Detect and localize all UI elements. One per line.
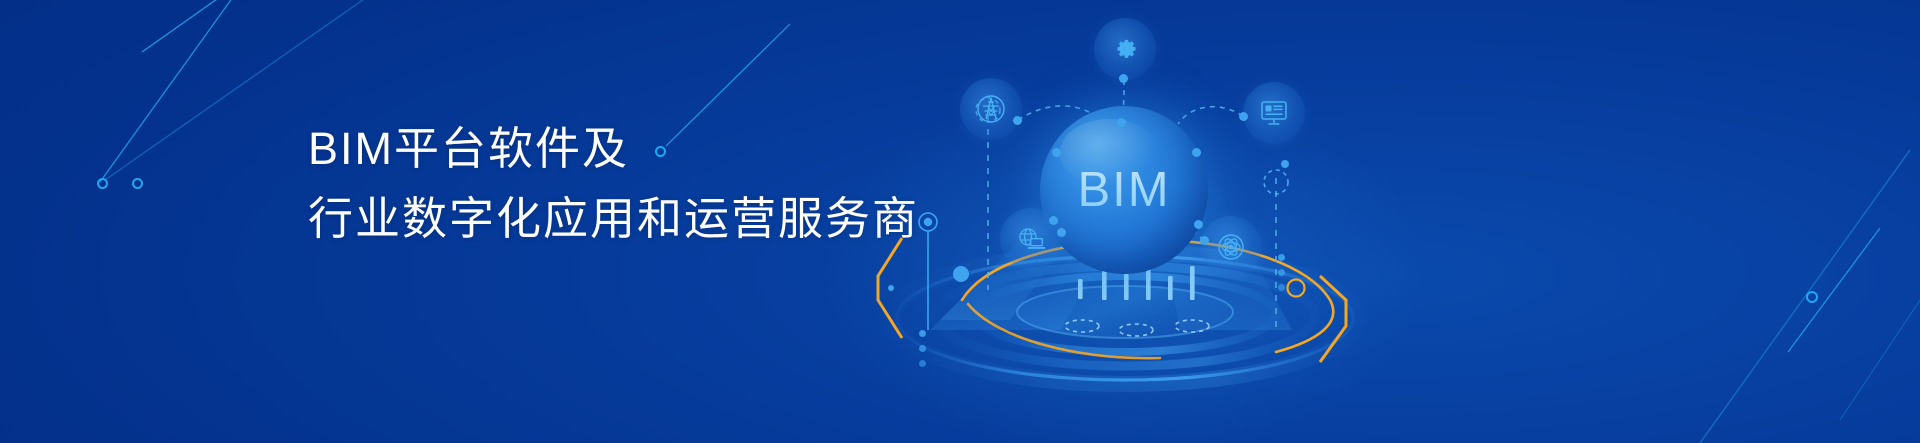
orange-brackets xyxy=(0,0,1920,443)
right-bracket xyxy=(1320,276,1346,362)
headline-line-2: 行业数字化应用和运营服务商 xyxy=(308,184,919,254)
bim-banner: BIM平台软件及 行业数字化应用和运营服务商 BIM xyxy=(0,0,1920,443)
page-title: BIM平台软件及 行业数字化应用和运营服务商 xyxy=(308,114,919,254)
headline-line-1: BIM平台软件及 xyxy=(308,114,919,184)
